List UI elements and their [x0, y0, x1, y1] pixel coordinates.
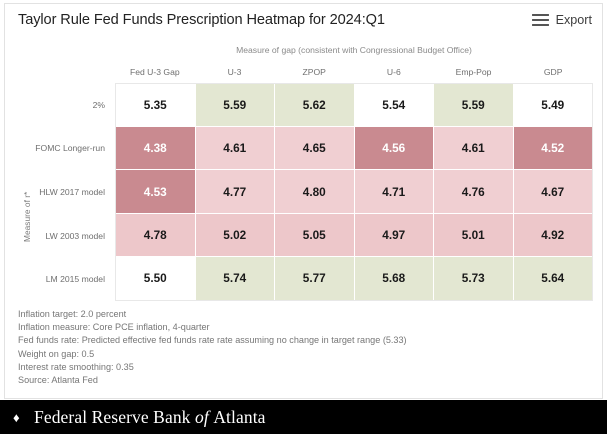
column-header: U-6	[354, 65, 434, 79]
heatmap-cell[interactable]: 5.01	[434, 214, 514, 257]
heatmap-cell[interactable]: 5.74	[196, 257, 276, 300]
footnote: Inflation measure: Core PCE inflation, 4…	[18, 321, 578, 334]
heatmap-cell[interactable]: 4.76	[434, 170, 514, 213]
heatmap-cell[interactable]: 4.61	[196, 127, 276, 170]
row-header: LW 2003 model	[25, 214, 111, 258]
heatmap-row: 4.534.774.804.714.764.67	[116, 170, 592, 213]
heatmap-cell[interactable]: 4.61	[434, 127, 514, 170]
heatmap-cell[interactable]: 5.68	[355, 257, 435, 300]
heatmap-cell[interactable]: 4.92	[514, 214, 593, 257]
footnotes: Inflation target: 2.0 percent Inflation …	[18, 308, 578, 387]
heatmap-cell[interactable]: 5.05	[275, 214, 355, 257]
heatmap-cell[interactable]: 5.77	[275, 257, 355, 300]
x-axis-label: Measure of gap (consistent with Congress…	[115, 45, 593, 55]
heatmap-row: 4.785.025.054.975.014.92	[116, 214, 592, 257]
column-header: Fed U-3 Gap	[115, 65, 195, 79]
heatmap-cell[interactable]: 4.67	[514, 170, 593, 213]
row-header: HLW 2017 model	[25, 170, 111, 214]
column-header: ZPOP	[274, 65, 354, 79]
heatmap-cell[interactable]: 4.53	[116, 170, 196, 213]
footnote-source: Source: Atlanta Fed	[18, 374, 578, 387]
eagle-icon: ♦	[13, 410, 26, 425]
heatmap-cell[interactable]: 4.65	[275, 127, 355, 170]
brand-name-of: of	[195, 407, 209, 427]
footnote: Fed funds rate: Predicted effective fed …	[18, 334, 578, 347]
heatmap-cell[interactable]: 4.56	[355, 127, 435, 170]
heatmap-cell[interactable]: 5.35	[116, 84, 196, 127]
brand-name-part1: Federal Reserve Bank	[34, 407, 191, 427]
heatmap-cell[interactable]: 5.49	[514, 84, 593, 127]
card-header: Taylor Rule Fed Funds Prescription Heatm…	[5, 4, 602, 40]
heatmap-row: 5.355.595.625.545.595.49	[116, 84, 592, 127]
heatmap-cell[interactable]: 5.62	[275, 84, 355, 127]
footnote: Inflation target: 2.0 percent	[18, 308, 578, 321]
heatmap-cell[interactable]: 4.52	[514, 127, 593, 170]
y-axis-label: Measure of r*	[11, 124, 25, 244]
heatmap-app: Taylor Rule Fed Funds Prescription Heatm…	[0, 0, 607, 434]
brand-footer: ♦ Federal Reserve Bank of Atlanta	[0, 400, 607, 434]
export-button-label: Export	[556, 13, 592, 27]
brand-name-part2: Atlanta	[213, 407, 265, 427]
footnote: Weight on gap: 0.5	[18, 348, 578, 361]
heatmap-cell[interactable]: 5.02	[196, 214, 276, 257]
brand-name: Federal Reserve Bank of Atlanta	[34, 407, 266, 428]
heatmap-row: 4.384.614.654.564.614.52	[116, 127, 592, 170]
heatmap-row: 5.505.745.775.685.735.64	[116, 257, 592, 300]
hamburger-icon	[532, 14, 549, 27]
heatmap-cell[interactable]: 4.77	[196, 170, 276, 213]
heatmap-cell[interactable]: 5.59	[434, 84, 514, 127]
column-header: GDP	[513, 65, 593, 79]
column-header: U-3	[195, 65, 275, 79]
chart-card: Taylor Rule Fed Funds Prescription Heatm…	[4, 3, 603, 399]
heatmap-cell[interactable]: 4.38	[116, 127, 196, 170]
column-headers: Fed U-3 Gap U-3 ZPOP U-6 Emp-Pop GDP	[115, 65, 593, 79]
heatmap-cell[interactable]: 4.80	[275, 170, 355, 213]
column-header: Emp-Pop	[434, 65, 514, 79]
export-button[interactable]: Export	[532, 13, 592, 27]
page-title: Taylor Rule Fed Funds Prescription Heatm…	[18, 12, 385, 28]
row-header: FOMC Longer-run	[25, 127, 111, 171]
heatmap-cell[interactable]: 5.59	[196, 84, 276, 127]
heatmap-grid: 5.355.595.625.545.595.494.384.614.654.56…	[115, 83, 593, 301]
heatmap-cell[interactable]: 5.50	[116, 257, 196, 300]
heatmap-cell[interactable]: 4.97	[355, 214, 435, 257]
heatmap-cell[interactable]: 5.73	[434, 257, 514, 300]
footnote: Interest rate smoothing: 0.35	[18, 361, 578, 374]
heatmap-cell[interactable]: 5.64	[514, 257, 593, 300]
heatmap-cell[interactable]: 4.78	[116, 214, 196, 257]
heatmap-cell[interactable]: 5.54	[355, 84, 435, 127]
row-headers: 2% FOMC Longer-run HLW 2017 model LW 200…	[25, 83, 111, 301]
row-header: 2%	[25, 83, 111, 127]
row-header: LM 2015 model	[25, 257, 111, 301]
heatmap-cell[interactable]: 4.71	[355, 170, 435, 213]
